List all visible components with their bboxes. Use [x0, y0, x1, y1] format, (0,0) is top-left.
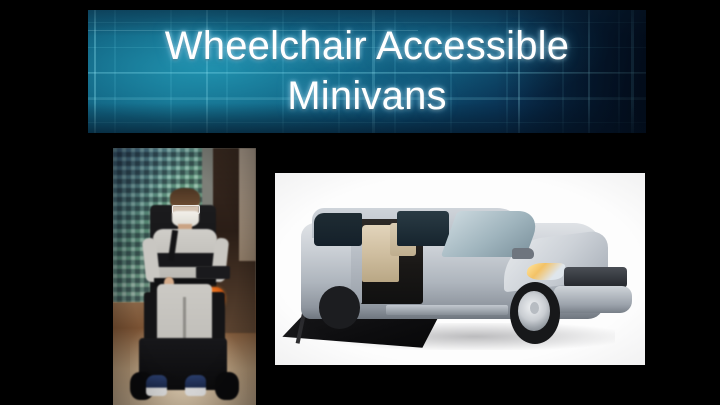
- photo-vignette: [113, 148, 256, 405]
- photo-wheelchair-accessible-minivan: [275, 173, 645, 365]
- title-banner: Wheelchair Accessible Minivans: [88, 10, 646, 133]
- title-line-two: Minivans: [287, 73, 446, 120]
- title-line-one: Wheelchair Accessible: [165, 23, 569, 70]
- photo-child-in-wheelchair: [113, 148, 256, 405]
- slide-canvas: Wheelchair Accessible Minivans: [0, 0, 720, 405]
- photo-edge-shading: [275, 173, 645, 365]
- page-title: Wheelchair Accessible Minivans: [88, 10, 646, 133]
